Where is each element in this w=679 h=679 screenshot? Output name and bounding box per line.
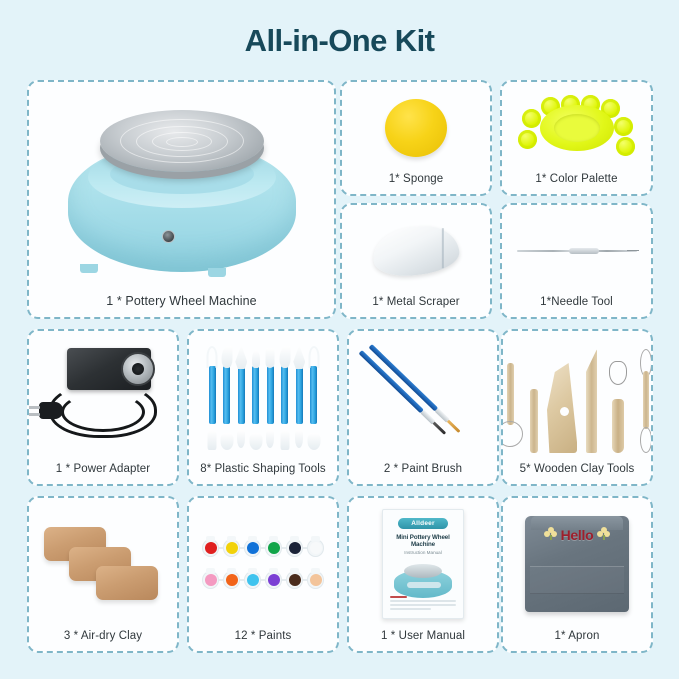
wooden-clay-tools-image xyxy=(503,331,651,463)
flower-icon xyxy=(597,527,610,540)
kit-item-caption: 12 * Paints xyxy=(189,630,337,651)
kit-item-caption: 1 * User Manual xyxy=(349,630,497,651)
kit-item-color-palette[interactable]: 1* Color Palette xyxy=(500,80,653,196)
kit-item-caption: 1* Sponge xyxy=(342,173,490,194)
manual-cover-subtitle: Instruction Manual xyxy=(389,550,457,555)
paints-image xyxy=(189,498,337,630)
kit-item-sponge[interactable]: 1* Sponge xyxy=(340,80,492,196)
apron-image: Hello xyxy=(503,498,651,630)
color-palette-image xyxy=(502,82,651,173)
air-dry-clay-image xyxy=(29,498,177,630)
apron-print-text: Hello xyxy=(525,527,629,543)
user-manual-image: Alldeer Mini Pottery Wheel Machine Instr… xyxy=(349,498,497,630)
kit-item-caption: 5* Wooden Clay Tools xyxy=(503,463,651,484)
kit-item-caption: 1*Needle Tool xyxy=(502,296,651,317)
kit-item-power-adapter[interactable]: 1 * Power Adapter xyxy=(27,329,179,486)
kit-item-caption: 1* Metal Scraper xyxy=(342,296,490,317)
power-adapter-image xyxy=(29,331,177,463)
power-port-icon xyxy=(162,230,175,243)
paint-row xyxy=(202,539,324,557)
speed-dial-icon xyxy=(121,352,155,386)
kit-item-paint-brush[interactable]: 2 * Paint Brush xyxy=(347,329,499,486)
kit-item-user-manual[interactable]: Alldeer Mini Pottery Wheel Machine Instr… xyxy=(347,496,499,653)
page-title: All-in-One Kit xyxy=(0,0,679,59)
paint-row xyxy=(202,571,324,589)
plastic-shaping-tools-image xyxy=(189,331,337,463)
kit-item-caption: 2 * Paint Brush xyxy=(349,463,497,484)
kit-item-apron[interactable]: Hello 1* Apron xyxy=(501,496,653,653)
needle-tool-image xyxy=(502,205,651,296)
kit-item-air-dry-clay[interactable]: 3 * Air-dry Clay xyxy=(27,496,179,653)
kit-item-paints[interactable]: 12 * Paints xyxy=(187,496,339,653)
kit-item-caption: 1 * Pottery Wheel Machine xyxy=(29,294,334,317)
pottery-wheel-image xyxy=(29,82,334,294)
manual-brand-badge: Alldeer xyxy=(398,518,448,529)
kit-item-caption: 3 * Air-dry Clay xyxy=(29,630,177,651)
kit-item-plastic-shaping-tools[interactable]: 8* Plastic Shaping Tools xyxy=(187,329,339,486)
kit-item-metal-scraper[interactable]: 1* Metal Scraper xyxy=(340,203,492,319)
sponge-image xyxy=(342,82,490,173)
kit-item-caption: 1* Color Palette xyxy=(502,173,651,194)
kit-item-wooden-clay-tools[interactable]: 5* Wooden Clay Tools xyxy=(501,329,653,486)
kit-item-caption: 8* Plastic Shaping Tools xyxy=(189,463,337,484)
kit-contents-grid: 1 * Pottery Wheel Machine 1* Sponge 1* C… xyxy=(27,80,653,653)
manual-cover-title: Mini Pottery Wheel Machine xyxy=(389,534,457,548)
kit-item-pottery-wheel[interactable]: 1 * Pottery Wheel Machine xyxy=(27,80,336,319)
kit-item-caption: 1 * Power Adapter xyxy=(29,463,177,484)
kit-item-needle-tool[interactable]: 1*Needle Tool xyxy=(500,203,653,319)
metal-scraper-image xyxy=(342,205,490,296)
kit-item-caption: 1* Apron xyxy=(503,630,651,651)
paint-brush-image xyxy=(349,331,497,463)
